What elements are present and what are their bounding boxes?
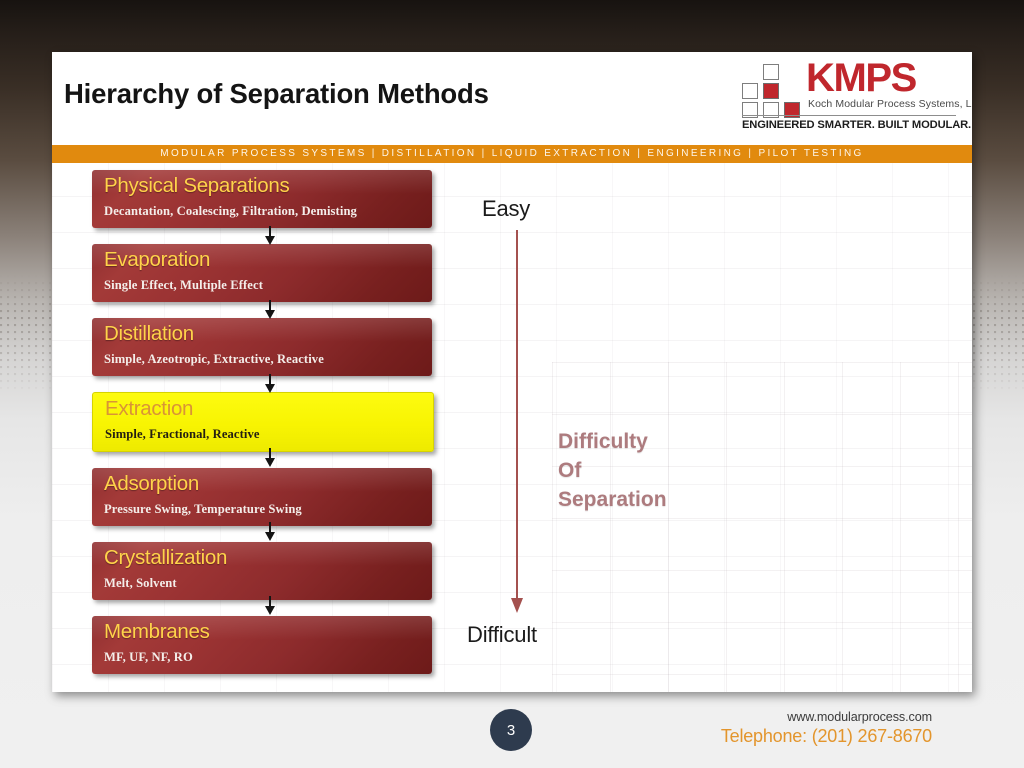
step-title: Adsorption	[104, 472, 199, 496]
separation-step-box: AdsorptionPressure Swing, Temperature Sw…	[92, 468, 432, 526]
slide-stage: Hierarchy of Separation Methods KMPS Koc…	[0, 0, 1024, 768]
axis-arrow-head-icon	[511, 598, 523, 613]
axis-caption-line-2: Of	[558, 456, 667, 485]
logo-tagline: ENGINEERED SMARTER. BUILT MODULAR.	[742, 119, 971, 131]
axis-arrow-line	[516, 230, 518, 602]
flow-arrow-icon	[262, 376, 278, 392]
separation-step-box: ExtractionSimple, Fractional, Reactive	[92, 392, 434, 452]
step-title: Evaporation	[104, 248, 210, 272]
step-subtitle: Simple, Azeotropic, Extractive, Reactive	[104, 352, 324, 367]
step-subtitle: Single Effect, Multiple Effect	[104, 278, 263, 293]
services-banner: MODULAR PROCESS SYSTEMS | DISTILLATION |…	[52, 145, 972, 163]
logo-divider	[742, 115, 956, 116]
logo-squares-icon	[742, 64, 800, 118]
separation-methods-flow: Physical SeparationsDecantation, Coalesc…	[92, 170, 437, 690]
slide-header: Hierarchy of Separation Methods KMPS Koc…	[52, 52, 972, 149]
logo-square-white-2	[742, 83, 758, 99]
step-title: Extraction	[105, 397, 193, 421]
separation-step-box: DistillationSimple, Azeotropic, Extracti…	[92, 318, 432, 376]
step-subtitle: Melt, Solvent	[104, 576, 177, 591]
separation-step-box: Physical SeparationsDecantation, Coalesc…	[92, 170, 432, 228]
step-subtitle: MF, UF, NF, RO	[104, 650, 193, 665]
flow-arrow-icon	[262, 598, 278, 614]
axis-label-difficult: Difficult	[467, 622, 537, 648]
kmps-logo: KMPS Koch Modular Process Systems, LLC. …	[734, 60, 964, 138]
axis-label-easy: Easy	[482, 196, 530, 222]
step-title: Physical Separations	[104, 174, 289, 198]
axis-caption-line-3: Separation	[558, 485, 667, 514]
page-number-badge: 3	[490, 709, 532, 751]
logo-square-red-1	[763, 83, 779, 99]
step-subtitle: Decantation, Coalescing, Filtration, Dem…	[104, 204, 357, 219]
flow-arrow-icon	[262, 228, 278, 244]
step-title: Crystallization	[104, 546, 227, 570]
separation-step-box: CrystallizationMelt, Solvent	[92, 542, 432, 600]
flow-arrow-icon	[262, 302, 278, 318]
step-subtitle: Simple, Fractional, Reactive	[105, 427, 260, 442]
services-banner-text: MODULAR PROCESS SYSTEMS | DISTILLATION |…	[52, 148, 972, 159]
footer-contact: www.modularprocess.com Telephone: (201) …	[721, 710, 932, 747]
footer-website: www.modularprocess.com	[721, 710, 932, 724]
flow-arrow-icon	[262, 524, 278, 540]
logo-wordmark: KMPS	[806, 56, 916, 101]
separation-step-box: EvaporationSingle Effect, Multiple Effec…	[92, 244, 432, 302]
step-subtitle: Pressure Swing, Temperature Swing	[104, 502, 302, 517]
flow-arrow-icon	[262, 450, 278, 466]
step-title: Distillation	[104, 322, 194, 346]
difficulty-axis: Easy Difficult Difficulty Of Separation	[457, 172, 757, 672]
logo-square-white-1	[763, 64, 779, 80]
slide-canvas: Hierarchy of Separation Methods KMPS Koc…	[52, 52, 972, 692]
page-title: Hierarchy of Separation Methods	[64, 78, 489, 110]
axis-caption: Difficulty Of Separation	[558, 427, 667, 514]
axis-caption-line-1: Difficulty	[558, 427, 667, 456]
logo-company-name: Koch Modular Process Systems, LLC.	[808, 98, 972, 110]
separation-step-box: MembranesMF, UF, NF, RO	[92, 616, 432, 674]
step-title: Membranes	[104, 620, 210, 644]
footer-phone: Telephone: (201) 267-8670	[721, 726, 932, 747]
